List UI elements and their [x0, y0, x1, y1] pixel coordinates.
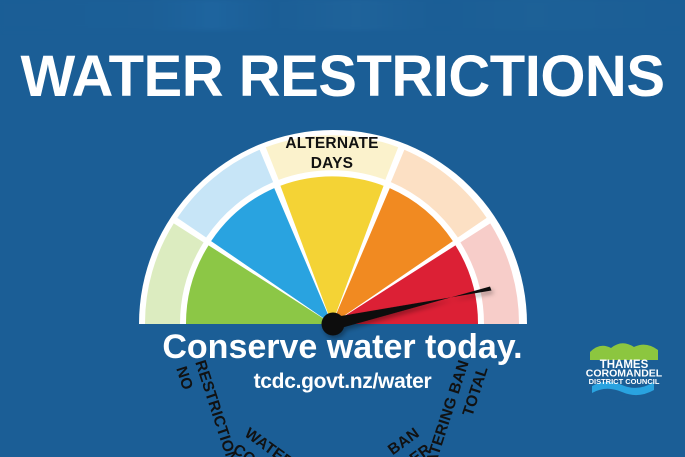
segment-label-conserve-water: CONSERVE WATER [230, 425, 323, 457]
poster-canvas: WATER RESTRICTIONS [0, 0, 685, 457]
tcdc-logo[interactable]: THAMES COROMANDEL DISTRICT COUNCIL [578, 330, 670, 404]
tcdc-logo-svg: THAMES COROMANDEL DISTRICT COUNCIL [578, 330, 670, 404]
segment-label-line1: ALTERNATE [285, 135, 378, 152]
segment-label-sprinkler-ban: SPRINKLER BAN [339, 425, 435, 457]
logo-line-3: DISTRICT COUNCIL [589, 377, 660, 386]
segment-label-line2: DAYS [311, 155, 353, 172]
